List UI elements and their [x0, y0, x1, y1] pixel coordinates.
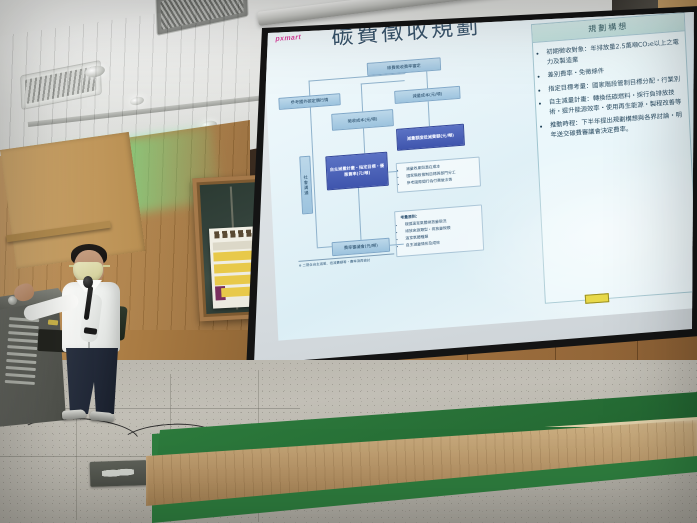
slide-title: 碳費徵收規劃: [331, 8, 482, 52]
shoe: [90, 411, 115, 422]
chart-node: 社會溝通: [299, 156, 313, 215]
chart-connector: [309, 80, 311, 95]
floor-access-plate: [90, 460, 148, 487]
chart-note-bottom: 考量原則： 我國溫室氣體排放量現況 排放來源類型・排放量規模 溫室氣體種類 自主…: [394, 204, 484, 257]
projection-screen: pxmart 碳費徵收規劃 碳費徵收費率審定 參考國外碳定價行情 減量成本(元/…: [240, 6, 697, 406]
shoe: [62, 409, 87, 420]
chart-connector: [428, 101, 430, 126]
chart-connector: [426, 71, 428, 88]
chart-connector: [361, 83, 363, 111]
projected-slide-area: pxmart 碳費徵收規劃 碳費徵收費率審定 參考國外碳定價行情 減量成本(元/…: [240, 6, 697, 406]
flow-chart: 碳費徵收費率審定 參考國外碳定價行情 減量成本(元/噸) 徵收成本(元/噸) 減…: [271, 49, 533, 330]
presenter: [28, 244, 148, 424]
microphone-icon: [83, 276, 93, 288]
chart-note-right: 減量效果與潛在成本 國家階段管制目標與部門分工 參考國際間行為付費做法等: [396, 156, 481, 192]
screen-brand-label: [585, 293, 610, 304]
panel-body: 初期徵收對象：年排放量2.5萬噸CO₂e以上之電力及製造業 差別費率・免徵條件 …: [533, 31, 689, 141]
chart-connector: [363, 128, 365, 153]
chart-connector: [317, 246, 333, 248]
chart-node-highlight: 減量額度抵減費額(元/噸): [396, 124, 465, 151]
conference-room-photo: pxmart 碳費徵收規劃 碳費徵收費率審定 參考國外碳定價行情 減量成本(元/…: [0, 0, 697, 523]
trousers: [64, 348, 120, 414]
chart-footnote: ※ 二期含自主減量、抵減費額等・費率須再檢討: [298, 253, 394, 267]
chart-connector: [404, 73, 405, 74]
planning-concept-panel: 規劃構想 初期徵收對象：年排放量2.5萬噸CO₂e以上之電力及製造業 差別費率・…: [531, 12, 697, 304]
chart-connector: [361, 80, 405, 84]
chart-node-highlight: 自主減量計畫・指定目標・優惠費率(元/噸): [325, 152, 389, 191]
presentation-slide: pxmart 碳費徵收規劃 碳費徵收費率審定 參考國外碳定價行情 減量成本(元/…: [262, 0, 697, 341]
chart-connector: [358, 188, 362, 240]
company-logo: pxmart: [275, 34, 301, 43]
